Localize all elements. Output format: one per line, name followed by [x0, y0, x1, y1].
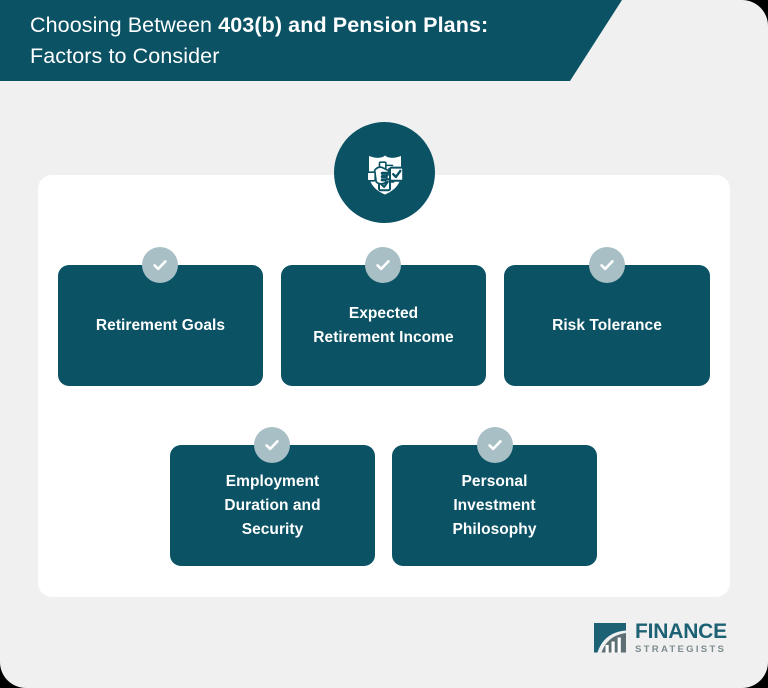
finance-strategists-logo: FINANCE STRATEGISTS — [592, 616, 732, 660]
check-icon — [365, 247, 401, 283]
factor-card-retirement-goals[interactable]: Retirement Goals — [58, 265, 263, 386]
factor-card-label: Expected Retirement Income — [301, 302, 465, 350]
brand-name-primary: FINANCE — [635, 621, 727, 642]
factor-card-label: Retirement Goals — [84, 314, 237, 338]
brand-name-secondary: STRATEGISTS — [635, 643, 727, 656]
shield-hand-checklist-icon — [334, 122, 435, 223]
brand-wordmark: FINANCE STRATEGISTS — [635, 621, 727, 656]
factors-panel — [38, 175, 730, 597]
factor-card-expected-retirement-income[interactable]: Expected Retirement Income — [281, 265, 486, 386]
check-icon — [142, 247, 178, 283]
bar-chart-arc-logo-icon — [592, 621, 628, 655]
check-icon — [254, 427, 290, 463]
factor-card-label: Risk Tolerance — [540, 314, 674, 338]
header-banner: Choosing Between 403(b) and Pension Plan… — [0, 0, 622, 81]
title-line1-strong: 403(b) and Pension Plans: — [218, 13, 488, 37]
check-icon — [589, 247, 625, 283]
page-title: Choosing Between 403(b) and Pension Plan… — [30, 10, 560, 72]
factor-card-label: Personal Investment Philosophy — [440, 470, 548, 542]
title-line2: Factors to Consider — [30, 44, 220, 68]
factor-card-personal-investment-philosophy[interactable]: Personal Investment Philosophy — [392, 445, 597, 566]
factor-card-employment-duration-and-security[interactable]: Employment Duration and Security — [170, 445, 375, 566]
factor-card-risk-tolerance[interactable]: Risk Tolerance — [504, 265, 710, 386]
factor-card-label: Employment Duration and Security — [212, 470, 332, 542]
check-icon — [477, 427, 513, 463]
infographic-root: Choosing Between 403(b) and Pension Plan… — [0, 0, 768, 688]
title-line1-normal: Choosing Between — [30, 13, 218, 37]
